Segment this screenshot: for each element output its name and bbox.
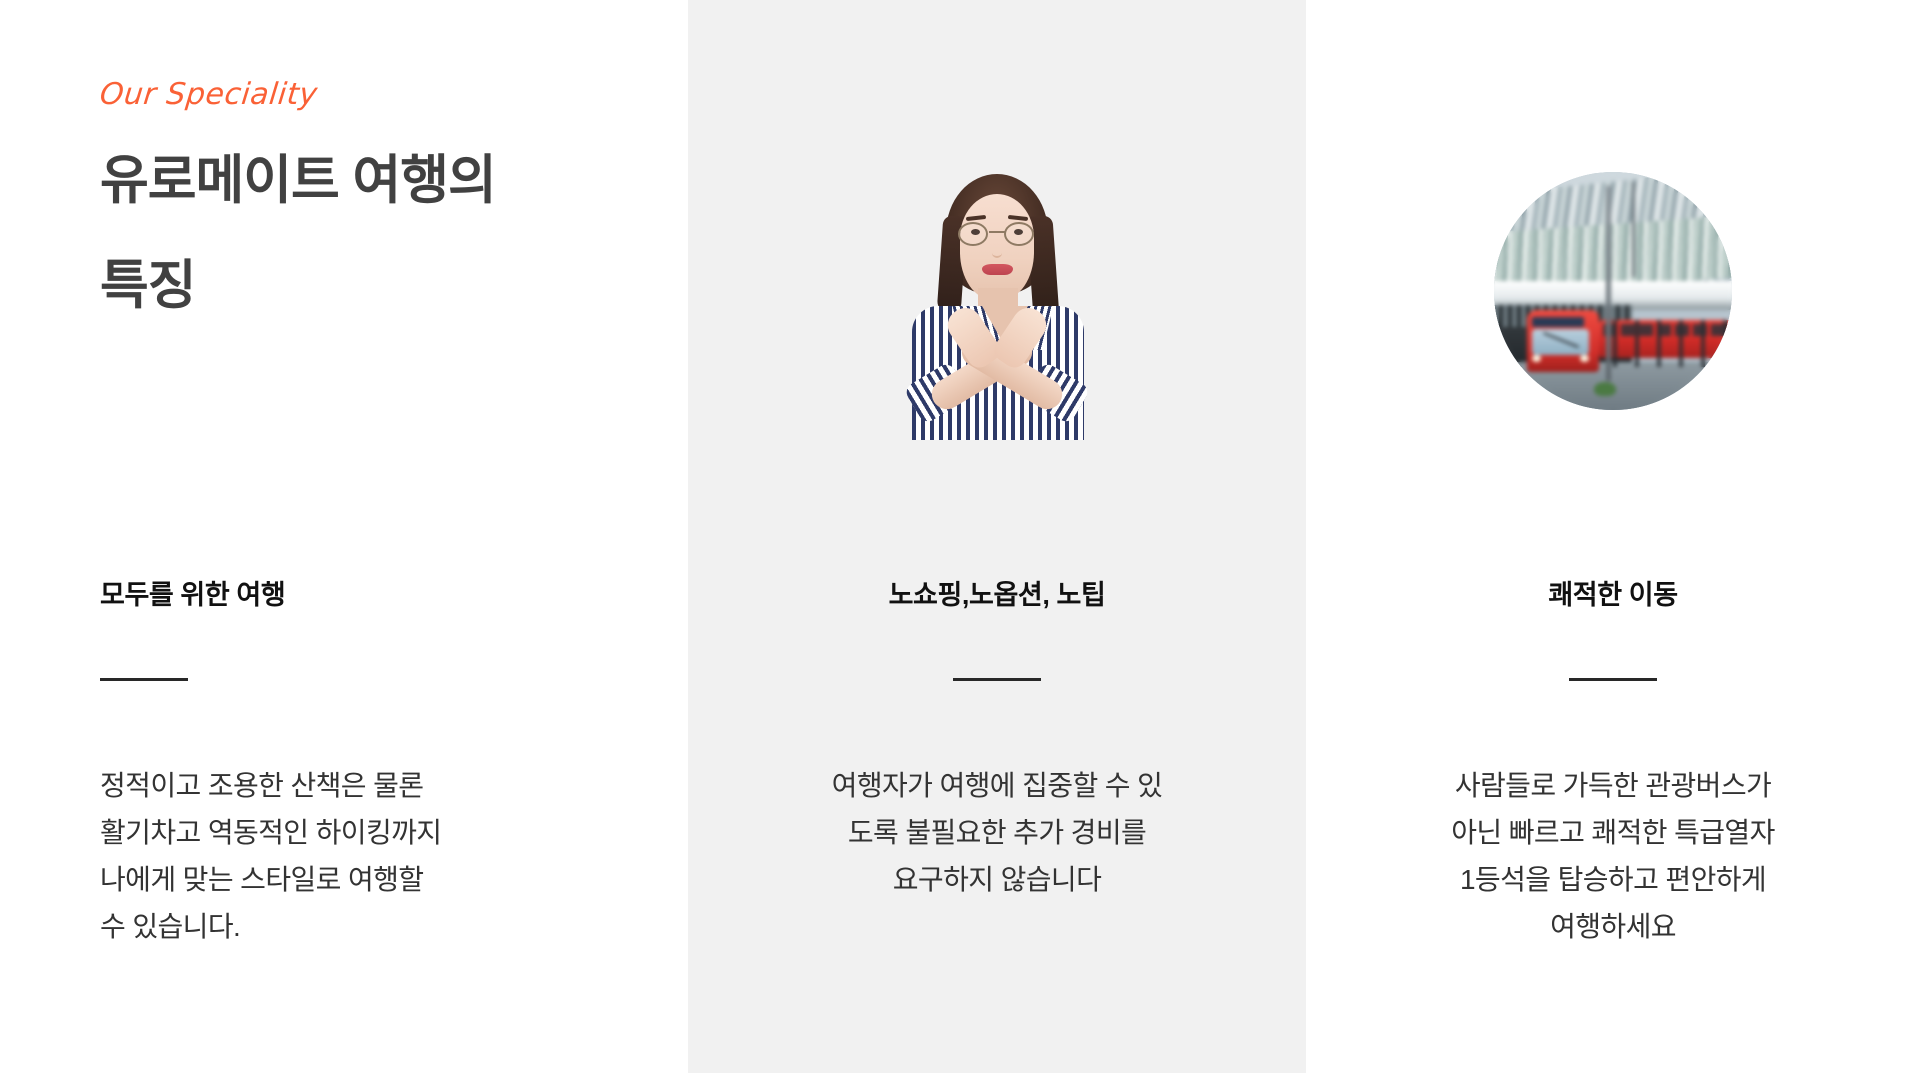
speciality-section: Our Speciality 유로메이트 여행의 특징 모두를 위한 여행 정적…: [0, 0, 1920, 1080]
card-media: [1306, 172, 1920, 442]
card-media: [688, 172, 1306, 442]
card-title: 모두를 위한 여행: [0, 578, 688, 612]
title-divider: [100, 678, 188, 681]
card-body: 정적이고 조용한 산책은 물론 활기차고 역동적인 하이킹까지 나에게 맞는 스…: [100, 762, 600, 950]
card-comfortable-transit: 쾌적한 이동 사람들로 가득한 관광버스가 아닌 빠르고 쾌적한 특급열자 1등…: [1306, 0, 1920, 1080]
photo-blur-overlay: [1494, 172, 1732, 410]
card-body: 여행자가 여행에 집중할 수 있 도록 불필요한 추가 경비를 요구하지 않습니…: [737, 762, 1257, 903]
woman-crossing-arms-photo: [904, 172, 1090, 440]
card-body: 사람들로 가득한 관광버스가 아닌 빠르고 쾌적한 특급열자 1등석을 탑승하고…: [1363, 762, 1863, 950]
lips-shape: [982, 264, 1013, 275]
title-divider: [953, 678, 1041, 681]
section-intro: Our Speciality 유로메이트 여행의 특징: [100, 76, 640, 338]
card-no-shopping: 노쇼핑,노옵션, 노팁 여행자가 여행에 집중할 수 있 도록 불필요한 추가 …: [688, 0, 1306, 1080]
train-station-circle-photo: [1494, 172, 1732, 410]
section-title: 유로메이트 여행의 특징: [100, 128, 640, 338]
glasses-shape: [958, 222, 1036, 246]
section-eyebrow: Our Speciality: [98, 76, 642, 114]
card-all-travelers: Our Speciality 유로메이트 여행의 특징 모두를 위한 여행 정적…: [0, 0, 688, 1080]
nose-shape: [992, 246, 1002, 258]
card-title: 노쇼핑,노옵션, 노팁: [688, 578, 1306, 612]
title-divider: [1569, 678, 1657, 681]
glasses-lens-left: [958, 222, 988, 246]
glasses-lens-right: [1004, 222, 1034, 246]
card-title: 쾌적한 이동: [1306, 578, 1920, 612]
glasses-bridge: [989, 231, 1005, 233]
